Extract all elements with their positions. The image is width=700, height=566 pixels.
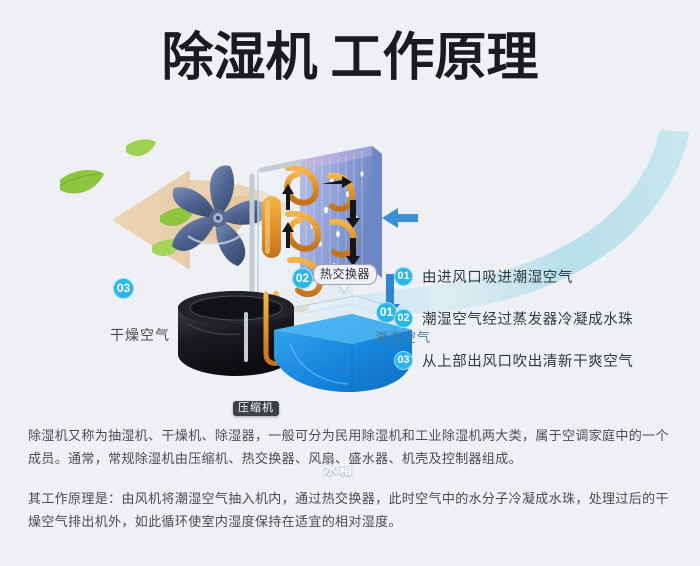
legend-item: 03 从上部出风口吹出清新干爽空气	[394, 339, 684, 381]
legend-text-03: 从上部出风口吹出清新干爽空气	[422, 350, 633, 371]
accumulator-cylinder	[262, 196, 281, 258]
diagram-badge-03: 03	[113, 278, 134, 299]
legend-item: 01 由进风口吸进潮湿空气	[394, 255, 684, 297]
legend-badge-01: 01	[394, 267, 413, 286]
title-part-product: 除湿机	[161, 32, 317, 84]
legend-item: 02 潮湿空气经过蒸发器冷凝成水珠	[394, 297, 684, 339]
legend-text-01: 由进风口吸进潮湿空气	[422, 266, 573, 287]
legend-badge-03: 03	[394, 351, 413, 370]
description-block: 除湿机又称为抽湿机、干燥机、除湿器，一般可分为民用除湿机和工业除湿机两大类，属于…	[28, 424, 676, 533]
diagram-label-heat-exchanger: 热交换器	[313, 264, 377, 285]
callout-tail-icon	[339, 285, 349, 293]
inlet-arrow	[382, 208, 418, 228]
page-title: 除湿机工作原理	[0, 32, 700, 84]
diagram-badge-02: 02	[292, 268, 313, 289]
diagram-label-compressor: 压缩机	[233, 401, 279, 416]
paragraph-definition: 除湿机又称为抽湿机、干燥机、除湿器，一般可分为民用除湿机和工业除湿机两大类，属于…	[28, 424, 676, 470]
diagram-label-dry-air: 干燥空气	[110, 328, 170, 342]
paragraph-principle: 其工作原理是：由风机将潮湿空气抽入机内，通过热交换器，此时空气中的水分子冷凝成水…	[28, 487, 676, 533]
infographic-page: 除湿机工作原理	[0, 0, 700, 566]
legend-text-02: 潮湿空气经过蒸发器冷凝成水珠	[422, 308, 633, 329]
legend-list: 01 由进风口吸进潮湿空气 02 潮湿空气经过蒸发器冷凝成水珠 03 从上部出风…	[394, 255, 684, 381]
title-part-subject: 工作原理	[331, 32, 539, 84]
legend-badge-02: 02	[394, 309, 413, 328]
diagram-callout-heat-exchanger: 热交换器	[313, 266, 377, 282]
